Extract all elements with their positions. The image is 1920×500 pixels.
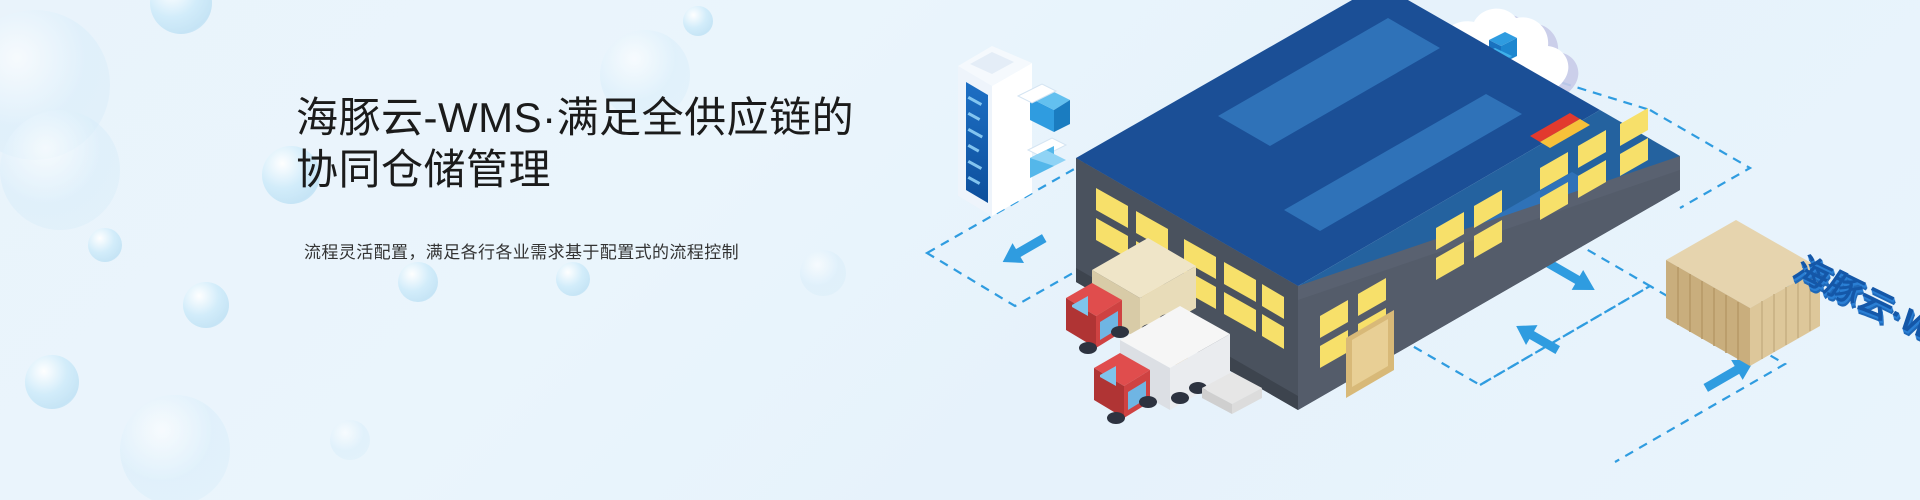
banner-text-block: 海豚云-WMS·满足全供应链的 协同仓储管理 流程灵活配置，满足各行各业需求基于… <box>296 92 936 266</box>
decorative-bubble <box>25 355 79 409</box>
decorative-bubble <box>398 262 438 302</box>
decorative-bubble <box>120 395 230 500</box>
flow-arrow-icon <box>1510 316 1563 360</box>
shipping-container-icon <box>1666 220 1820 366</box>
promo-banner: 海豚云-WMS·满足全供应链的 协同仓储管理 流程灵活配置，满足各行各业需求基于… <box>0 0 1920 500</box>
decorative-bubble <box>330 420 370 460</box>
decorative-bubble <box>183 282 229 328</box>
decorative-bubble <box>0 10 110 160</box>
flow-arrow-icon <box>997 228 1050 272</box>
decorative-bubble <box>0 110 120 230</box>
decorative-bubble <box>88 228 122 262</box>
decorative-bubble <box>683 6 713 36</box>
server-rack-icon <box>958 46 1070 216</box>
page-title: 海豚云-WMS·满足全供应链的 协同仓储管理 <box>296 92 936 196</box>
page-subtitle: 流程灵活配置，满足各行各业需求基于配置式的流程控制 <box>296 196 936 266</box>
decorative-bubble <box>556 262 590 296</box>
decorative-bubble <box>150 0 212 34</box>
warehouse-illustration: 海豚云·WMS 协同仓储管理 <box>880 0 1920 500</box>
